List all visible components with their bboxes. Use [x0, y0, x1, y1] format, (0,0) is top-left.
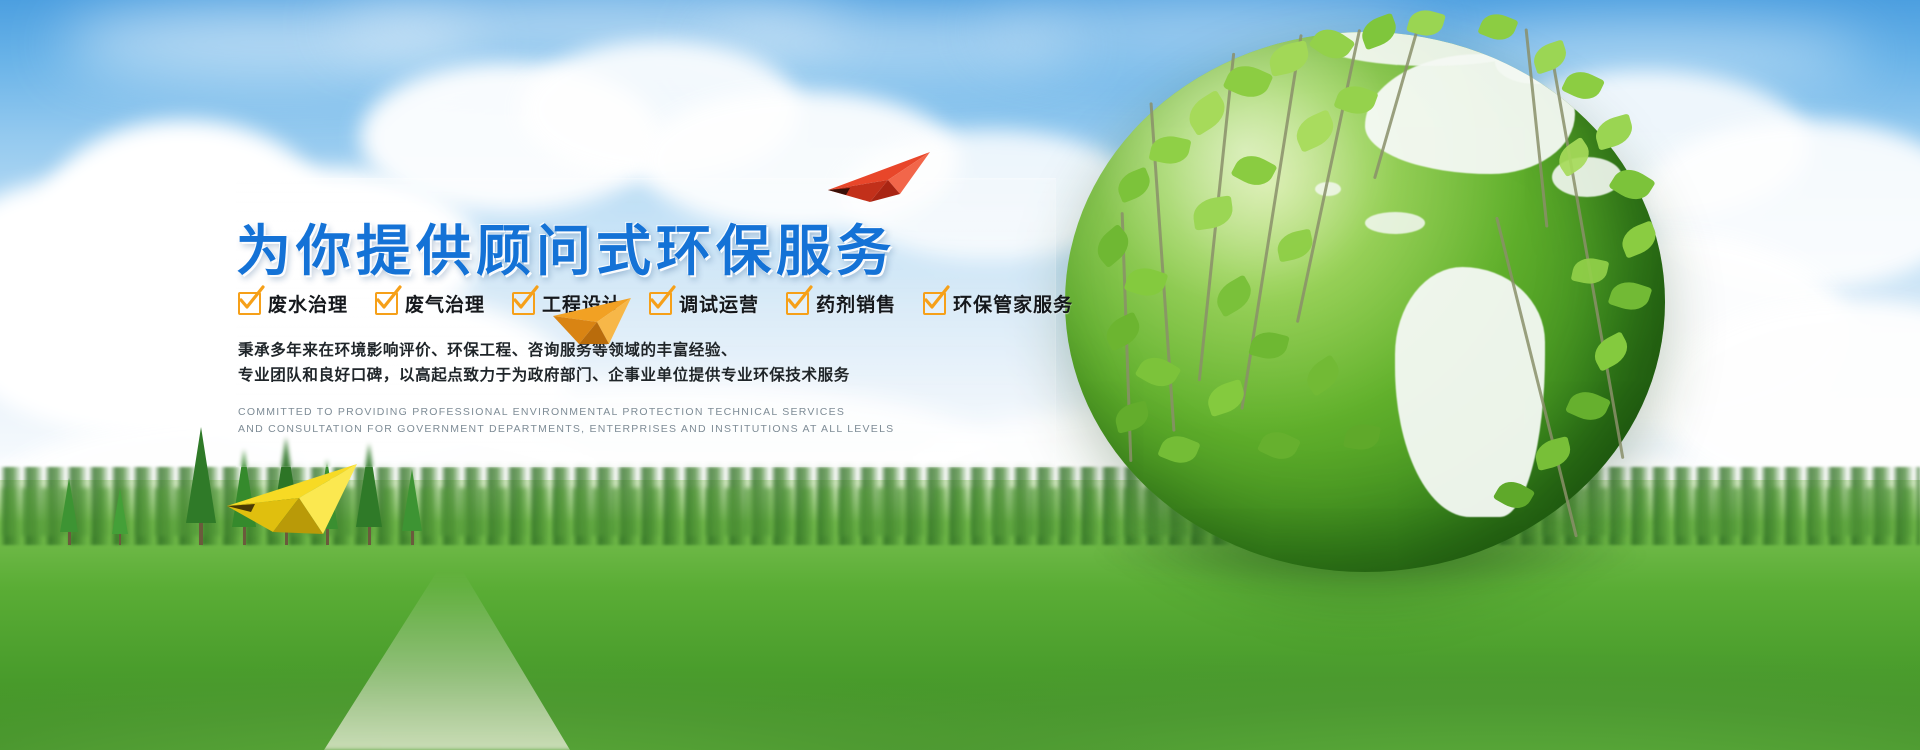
globe-sphere [1065, 32, 1665, 572]
service-label: 环保管家服务 [953, 290, 1073, 317]
service-item-chemical-sales[interactable]: 药剂销售 [786, 290, 896, 317]
service-label: 调试运营 [679, 290, 759, 317]
description-line-2: 专业团队和良好口碑，以高起点致力于为政府部门、企事业单位提供专业环保技术服务 [238, 363, 1038, 388]
checkbox-check-icon [238, 292, 261, 315]
checkbox-check-icon [512, 292, 535, 315]
description-line-1: 秉承多年来在环境影响评价、环保工程、咨询服务等领域的丰富经验、 [238, 338, 1038, 363]
service-label: 药剂销售 [816, 290, 896, 317]
environmental-services-banner: 为你提供顾问式环保服务 废水治理 废气治理 [0, 0, 1920, 750]
service-label: 工程设计 [542, 290, 622, 317]
conifer-tree [186, 427, 216, 545]
service-item-waste-gas[interactable]: 废气治理 [375, 290, 485, 317]
conifer-tree [316, 459, 338, 545]
checkbox-check-icon [649, 292, 672, 315]
green-leaf-globe-graphic [1065, 32, 1665, 572]
page-title: 为你提供顾问式环保服务 [236, 206, 1036, 286]
globe-sheen [1065, 32, 1665, 572]
english-subtext: COMMITTED TO PROVIDING PROFESSIONAL ENVI… [238, 404, 1038, 438]
service-item-commissioning-operation[interactable]: 调试运营 [649, 290, 759, 317]
banner-content: 为你提供顾问式环保服务 废水治理 废气治理 [236, 178, 1076, 466]
service-label: 废气治理 [405, 290, 485, 317]
conifer-tree [60, 478, 78, 545]
service-item-env-housekeeper[interactable]: 环保管家服务 [923, 290, 1073, 317]
english-line-2: AND CONSULTATION FOR GOVERNMENT DEPARTME… [238, 421, 1038, 438]
english-line-1: COMMITTED TO PROVIDING PROFESSIONAL ENVI… [238, 404, 1038, 421]
service-item-wastewater[interactable]: 废水治理 [238, 290, 348, 317]
service-checklist: 废水治理 废气治理 工程设计 [238, 290, 1058, 317]
description-text: 秉承多年来在环境影响评价、环保工程、咨询服务等领域的丰富经验、 专业团队和良好口… [238, 338, 1038, 388]
service-label: 废水治理 [268, 290, 348, 317]
checkbox-check-icon [923, 292, 946, 315]
conifer-tree [402, 469, 422, 545]
service-item-engineering-design[interactable]: 工程设计 [512, 290, 622, 317]
checkbox-check-icon [786, 292, 809, 315]
conifer-tree [112, 488, 128, 545]
checkbox-check-icon [375, 292, 398, 315]
